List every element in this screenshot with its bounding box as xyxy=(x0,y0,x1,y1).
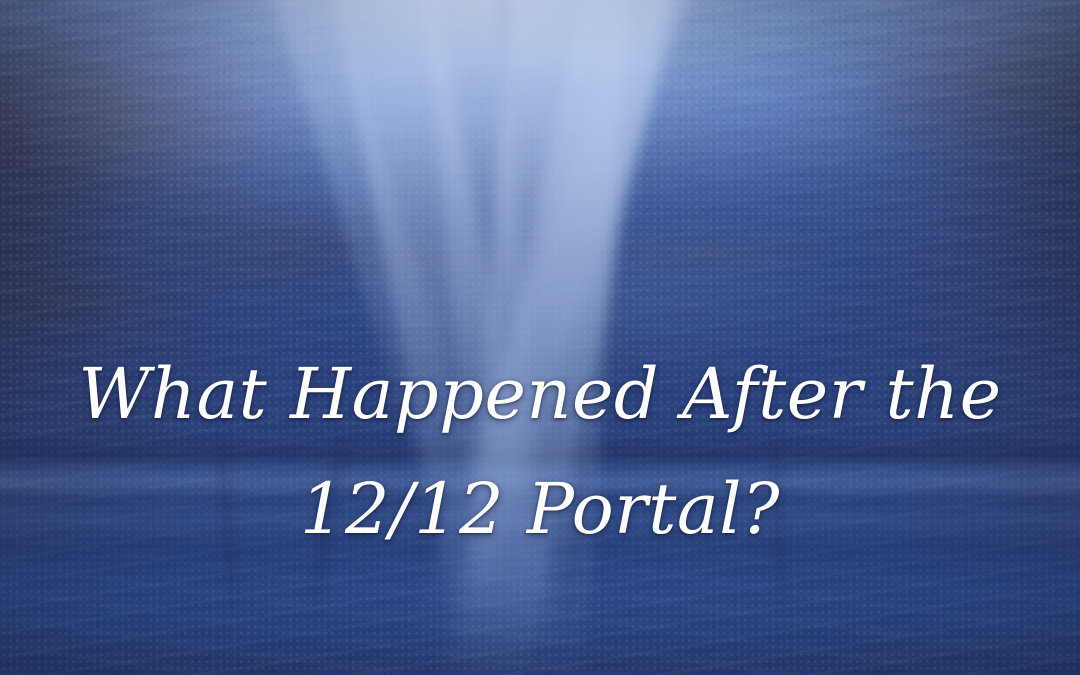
background-base-gradient xyxy=(0,0,1080,675)
light-beam-center xyxy=(455,0,633,675)
cave-wall-left xyxy=(0,0,1080,675)
cave-wall-right xyxy=(0,0,1080,675)
light-beam-left xyxy=(325,0,575,675)
light-beam-group xyxy=(0,0,1080,675)
corner-vignette xyxy=(0,0,1080,675)
light-beam-right xyxy=(418,0,679,675)
atmospheric-mist xyxy=(0,0,1080,675)
light-beam-inner-left xyxy=(421,0,561,675)
title-line-2: 12/12 Portal? xyxy=(0,466,1080,552)
feature-title: What Happened After the 12/12 Portal? xyxy=(0,352,1080,552)
rock-ledge-shelf xyxy=(0,0,1080,675)
stone-grain-texture xyxy=(0,0,1080,675)
cave-ceiling-shadow xyxy=(0,0,1080,675)
boulder-seam-edges xyxy=(0,0,1080,675)
rock-strata-texture xyxy=(0,0,1080,675)
warm-mineral-staining xyxy=(0,0,1080,675)
title-line-1: What Happened After the xyxy=(0,352,1080,436)
rock-ledge-lower xyxy=(0,0,1080,675)
feature-image-canvas: What Happened After the 12/12 Portal? xyxy=(0,0,1080,675)
cave-opening-glow xyxy=(0,0,1080,675)
light-beam-far-right xyxy=(386,0,703,675)
blue-color-grade xyxy=(0,0,1080,675)
